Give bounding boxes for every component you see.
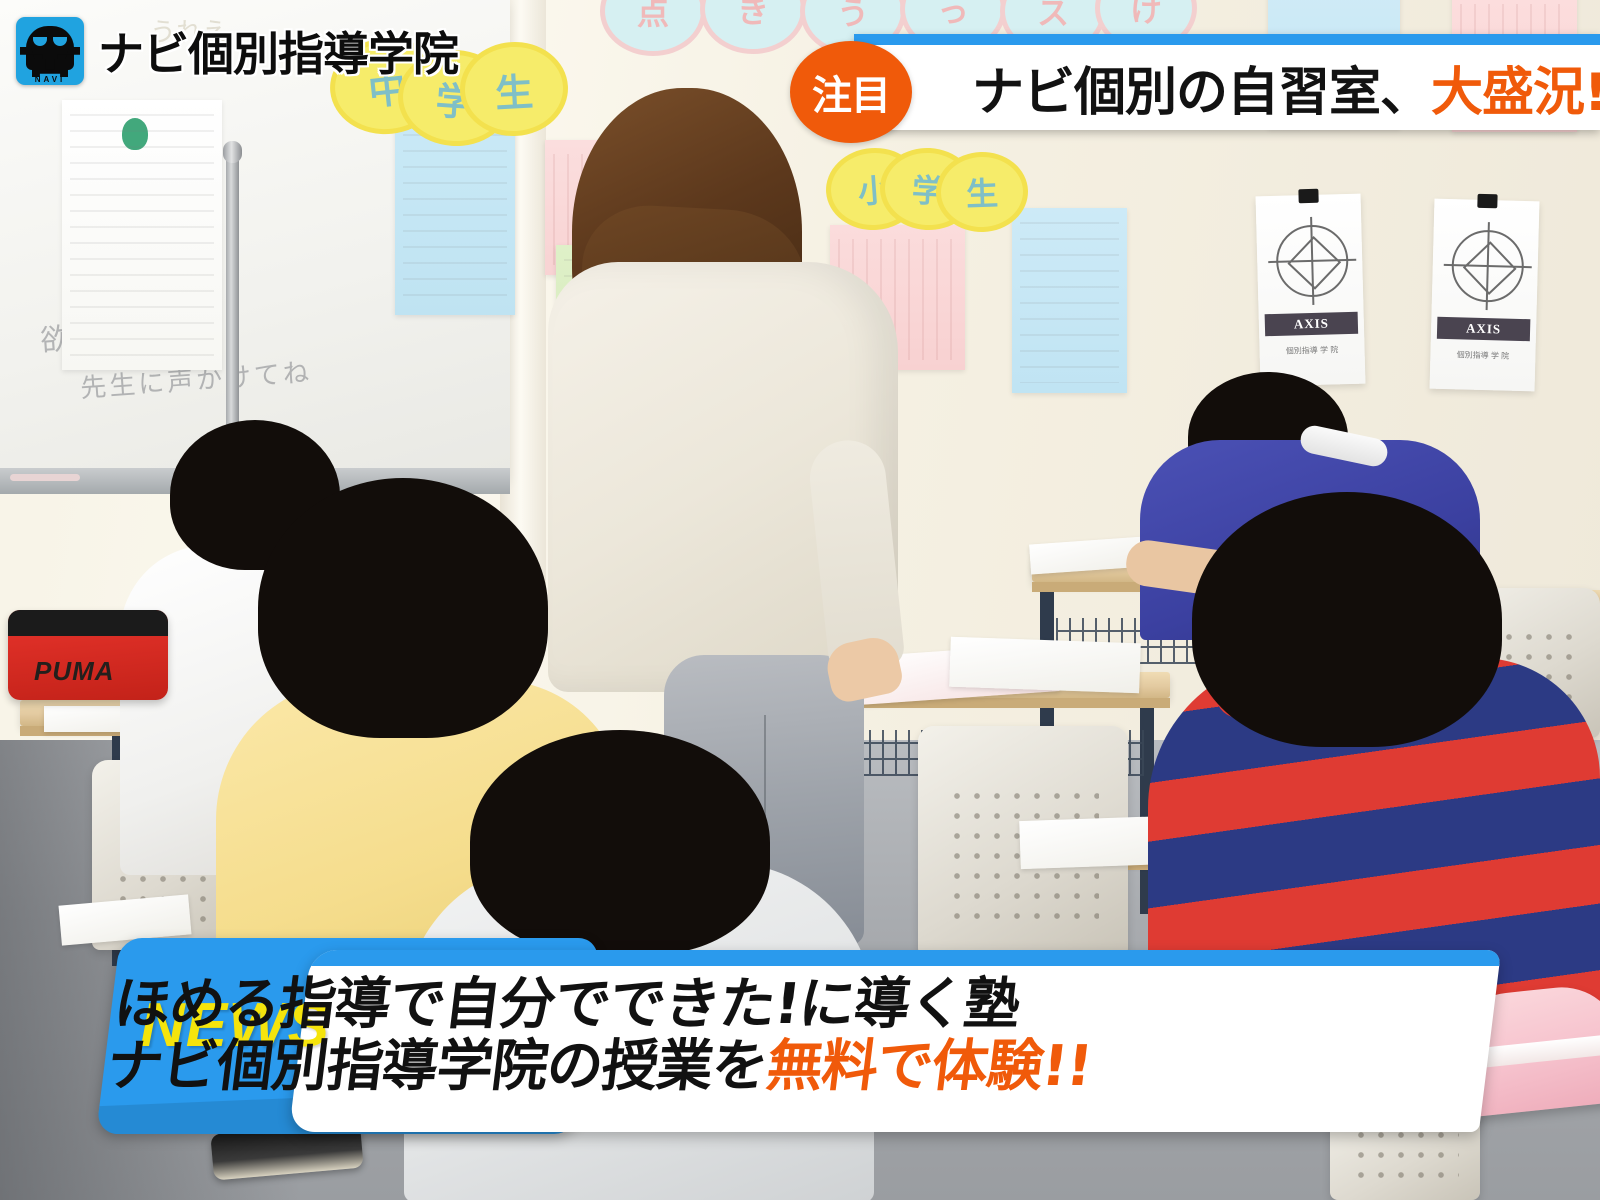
compass-diamond bbox=[1462, 241, 1516, 295]
news-copy-line-2: ナビ個別指導学院の授業を無料で体験!! bbox=[47, 1036, 1235, 1098]
student-hair bbox=[470, 730, 770, 955]
puma-brand-label: PUMA bbox=[34, 656, 115, 687]
top-banner-accent-bar bbox=[854, 34, 1600, 45]
poster-text-lines bbox=[403, 134, 507, 305]
screenshot-root: 点 き う っ ス け うれえ 欲しい人は 先生に声かけてね bbox=[0, 0, 1600, 1200]
chair-perforations bbox=[1351, 1125, 1459, 1186]
paper-clip-icon bbox=[1298, 189, 1318, 204]
poster-text-lines bbox=[1020, 222, 1119, 383]
brand-logo: NAVI ナビ個別指導学院 bbox=[16, 14, 458, 88]
poster-white-left bbox=[62, 100, 222, 370]
student-hair bbox=[258, 478, 548, 738]
brand-name: ナビ個別指導学院 bbox=[98, 18, 458, 84]
news-copy-line-2-plain: ナビ個別指導学院の授業を bbox=[103, 1034, 771, 1099]
navi-mascot-icon: NAVI bbox=[16, 17, 84, 85]
poster-blue-upper bbox=[395, 120, 515, 315]
top-headline-plain: ナビ個別の自習室、 bbox=[972, 50, 1431, 125]
axis-poster-right: AXIS 個別指導 学 院 bbox=[1430, 199, 1540, 392]
news-copy-line-2-accent: 無料で体験!! bbox=[763, 1034, 1095, 1099]
axis-brand-label: AXIS bbox=[1265, 312, 1359, 336]
top-headline-text: ナビ個別の自習室、 大盛況! bbox=[972, 45, 1596, 130]
news-copy-line-1: ほめる指導で自分でできた!に導く塾 bbox=[55, 956, 1245, 1036]
chuumoku-badge: 注目 bbox=[790, 41, 912, 143]
student-hair bbox=[1192, 492, 1502, 747]
compass-diamond bbox=[1287, 236, 1341, 290]
poster-text-lines bbox=[70, 114, 214, 360]
pencil-case-puma: PUMA bbox=[8, 610, 168, 700]
compass-rose-icon bbox=[1450, 229, 1524, 303]
compass-rose-icon bbox=[1275, 224, 1349, 298]
news-copy: ほめる指導で自分でできた!に導く塾 ナビ個別指導学院の授業を無料で体験!! bbox=[47, 956, 1244, 1098]
top-headline-accent: 大盛況! bbox=[1431, 50, 1600, 125]
paper-sheet bbox=[949, 637, 1141, 694]
axis-sub-label: 個別指導 学 院 bbox=[1259, 344, 1364, 358]
top-headline-banner: ナビ個別の自習室、 大盛況! 注目 bbox=[854, 34, 1600, 130]
paper-clip-icon bbox=[1477, 194, 1497, 209]
axis-brand-label: AXIS bbox=[1437, 317, 1531, 341]
axis-sub-label: 個別指導 学 院 bbox=[1430, 349, 1535, 363]
navi-caption: NAVI bbox=[16, 75, 84, 84]
poster-blue-mid bbox=[1012, 208, 1127, 393]
axis-poster-left: AXIS 個別指導 学 院 bbox=[1256, 194, 1366, 387]
